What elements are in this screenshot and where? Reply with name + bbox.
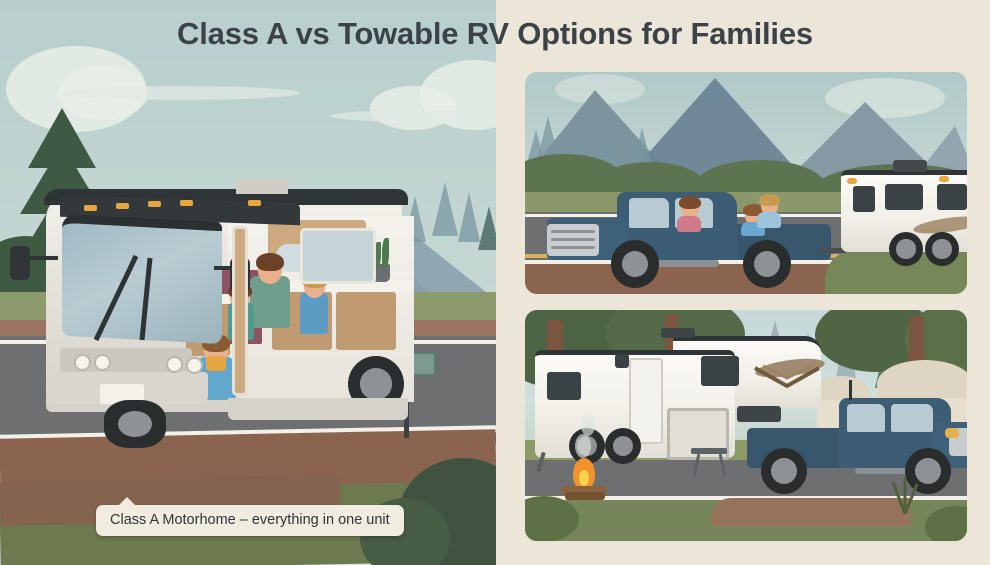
fifth-wheel-roof-vent <box>661 328 695 338</box>
grass-tuft-icon <box>885 478 925 514</box>
clearance-marker-light <box>248 200 261 206</box>
tow-vehicle-window-front <box>629 198 669 228</box>
clearance-marker-light <box>148 201 161 207</box>
grille-bar <box>551 238 595 241</box>
child-figure-girl <box>300 292 328 334</box>
grille-bar <box>551 246 595 249</box>
child-hair-bed-2 <box>759 194 780 206</box>
clearance-marker-light <box>84 205 97 211</box>
fifth-wheel-chevron-decal <box>753 364 821 392</box>
clearance-marker-light <box>116 203 129 209</box>
side-mirror <box>10 246 30 280</box>
trailer-wheel <box>925 232 959 266</box>
turn-signal-icon <box>206 356 226 371</box>
campfire-core <box>579 470 589 486</box>
trailer-roof-ac <box>893 160 927 172</box>
child-hair-window <box>679 196 701 209</box>
fifth-wheel-small-window <box>615 354 629 368</box>
tow-vehicle-front-wheel <box>611 240 659 288</box>
fifth-wheel-kingpin <box>737 406 781 422</box>
motorhome-side-window <box>300 228 376 284</box>
pickup-window-rear <box>847 404 885 432</box>
adult-hair <box>256 253 284 271</box>
pine-tree-icon <box>478 206 496 250</box>
trailer-window <box>937 184 967 210</box>
caption-class-a: Class A Motorhome – everything in one un… <box>96 505 404 536</box>
campfire-log <box>565 492 605 500</box>
headlight-icon <box>74 354 91 371</box>
dirt-path <box>711 498 911 526</box>
smoke-puff <box>575 434 591 458</box>
plant-leaf <box>382 238 389 268</box>
trailer-wheel <box>889 232 923 266</box>
fifth-wheel-window <box>701 356 739 386</box>
pickup-antenna <box>849 380 852 400</box>
roof-air-conditioner <box>236 178 288 194</box>
fifth-wheel-window <box>547 372 581 400</box>
motorhome-entry-door <box>232 226 248 396</box>
child-figure-window <box>677 216 701 232</box>
headlight-icon <box>94 354 111 371</box>
pickup-rear-wheel <box>761 448 807 494</box>
tow-vehicle-rear-wheel <box>743 240 791 288</box>
trailer-marker-light <box>847 178 857 184</box>
pickup-window-front <box>891 404 933 432</box>
trailer-marker-light <box>939 176 949 182</box>
panel-class-a: Class A Motorhome – everything in one un… <box>0 0 496 565</box>
pine-tree-icon <box>432 182 458 236</box>
cloud-streak <box>60 86 300 100</box>
fifth-wheel-wheel <box>605 428 641 464</box>
lower-cabinet <box>336 292 396 350</box>
pine-tree-icon <box>458 192 480 242</box>
pickup-headlight <box>945 428 959 438</box>
motorhome-front-wheel <box>104 400 166 448</box>
windshield-wipers <box>78 248 208 344</box>
infographic-canvas: Class A Motorhome – everything in one un… <box>0 0 990 565</box>
trailer-window <box>853 186 875 212</box>
page-title: Class A vs Towable RV Options for Famili… <box>177 16 813 52</box>
headlight-icon <box>186 357 203 374</box>
title-bar: Class A vs Towable RV Options for Famili… <box>0 0 990 68</box>
grille-bar <box>551 230 595 233</box>
clearance-marker-light <box>180 200 193 206</box>
panel-towable-rv: $60,000 $50,000 Towable RV + tow vehicle <box>525 72 967 294</box>
trailer-window <box>885 184 923 210</box>
headlight-icon <box>166 356 183 373</box>
motorhome-side-skirt <box>228 398 408 420</box>
child-figure-bed-2 <box>757 212 781 228</box>
smoke-puff <box>581 414 595 436</box>
panel-fifth-wheel: Fifth wheel – big space, more towing com… <box>525 310 967 541</box>
